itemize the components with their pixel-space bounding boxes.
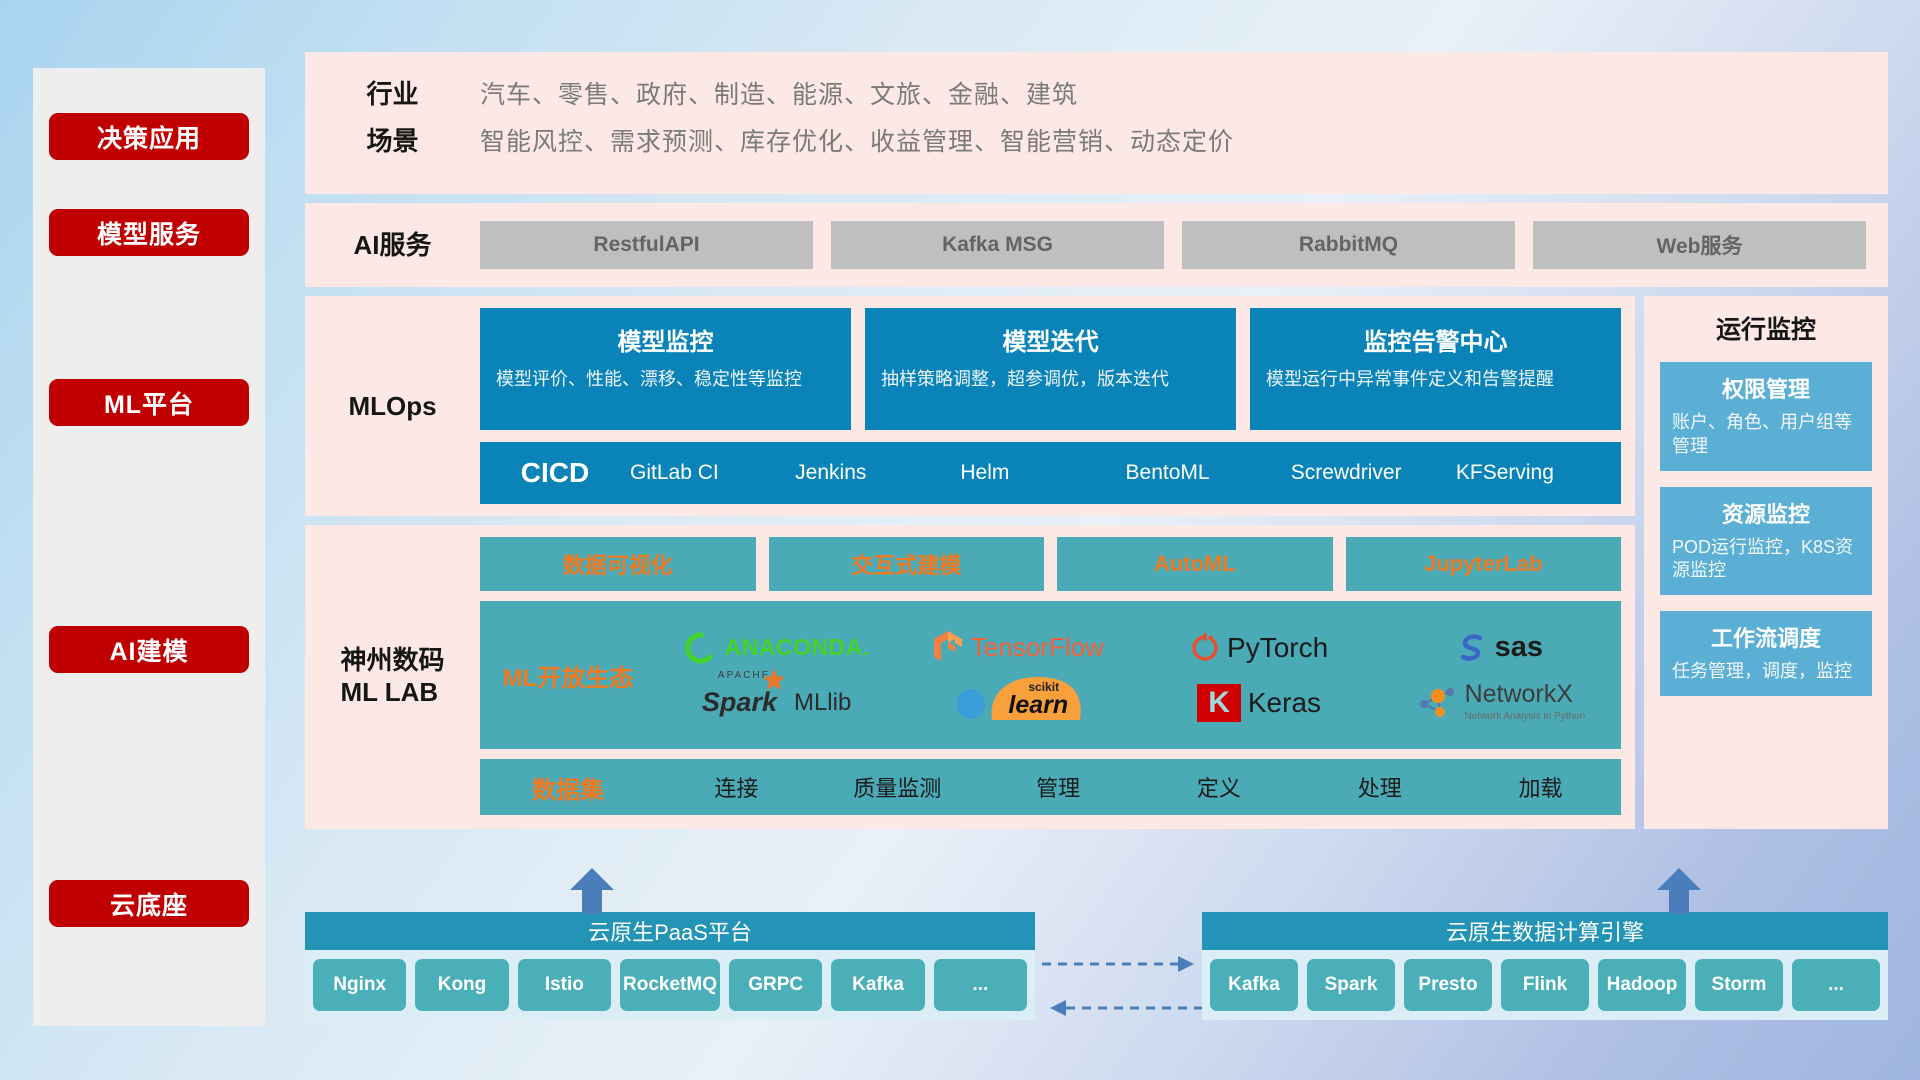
lab-chip-interactive-modeling[interactable]: 交互式建模 <box>769 537 1045 591</box>
tier-label-decision-app[interactable]: 决策应用 <box>49 113 249 160</box>
sas-logo: sas <box>1458 631 1543 664</box>
ml-lab-layer: 神州数码 ML LAB 数据可视化 交互式建模 AutoML JupyterLa… <box>305 525 1635 829</box>
mllib-label: MLlib <box>794 689 851 717</box>
tensorflow-label: TensorFlow <box>971 632 1104 663</box>
mlops-card-desc: 模型评价、性能、漂移、稳定性等监控 <box>496 367 835 391</box>
monitor-card-permission[interactable]: 权限管理 账户、角色、用户组等管理 <box>1660 362 1872 471</box>
networkx-label: NetworkX <box>1465 680 1573 708</box>
paas-chip-kong[interactable]: Kong <box>415 959 508 1011</box>
networkx-graph-icon <box>1416 684 1458 722</box>
arrow-right-head <box>1178 956 1194 972</box>
monitor-card-workflow[interactable]: 工作流调度 任务管理，调度，监控 <box>1660 611 1872 696</box>
cicd-bar: CICD GitLab CI Jenkins Helm BentoML Scre… <box>480 442 1621 504</box>
dataset-item-quality[interactable]: 质量监测 <box>817 771 978 803</box>
monitor-card-title: 权限管理 <box>1672 372 1860 404</box>
monitor-card-desc: 账户、角色、用户组等管理 <box>1672 411 1860 459</box>
service-layer-label: AI服务 <box>305 229 480 262</box>
tensorflow-logo: TensorFlow <box>932 630 1104 666</box>
keras-label: Keras <box>1248 687 1321 719</box>
service-box-rabbitmq[interactable]: RabbitMQ <box>1182 221 1515 269</box>
data-engine-panel: 云原生数据计算引擎 Kafka Spark Presto Flink Hadoo… <box>1202 912 1888 1020</box>
tier-label-ml-platform[interactable]: ML平台 <box>49 379 249 426</box>
tier-rail: 决策应用 模型服务 ML平台 AI建模 云底座 <box>33 68 265 1026</box>
cicd-item-kfserving[interactable]: KFServing <box>1456 462 1621 484</box>
networkx-sublabel: Network Analysis in Python <box>1465 711 1586 722</box>
runtime-monitoring-column: 运行监控 权限管理 账户、角色、用户组等管理 资源监控 POD运行监控，K8S资… <box>1644 296 1888 829</box>
cloud-foundation-layer: 云原生PaaS平台 Nginx Kong Istio RocketMQ GRPC… <box>305 890 1888 1035</box>
mlops-card-title: 模型迭代 <box>881 322 1220 357</box>
engine-chip-spark[interactable]: Spark <box>1307 959 1395 1011</box>
dataset-item-connect[interactable]: 连接 <box>656 771 817 803</box>
mlops-card-desc: 模型运行中异常事件定义和告警提醒 <box>1266 367 1605 391</box>
mlops-card-title: 模型监控 <box>496 322 835 357</box>
engine-chip-flink[interactable]: Flink <box>1501 959 1589 1011</box>
paas-chip-grpc[interactable]: GRPC <box>729 959 822 1011</box>
keras-k-icon: K <box>1197 684 1241 722</box>
cicd-title: CICD <box>480 457 630 489</box>
mlops-card-alert-center[interactable]: 监控告警中心 模型运行中异常事件定义和告警提醒 <box>1250 308 1621 430</box>
paas-chip-rocketmq[interactable]: RocketMQ <box>620 959 720 1011</box>
tier-label-cloud-base[interactable]: 云底座 <box>49 880 249 927</box>
mlops-card-model-monitoring[interactable]: 模型监控 模型评价、性能、漂移、稳定性等监控 <box>480 308 851 430</box>
tier-label-model-service[interactable]: 模型服务 <box>49 209 249 256</box>
engine-chip-presto[interactable]: Presto <box>1404 959 1492 1011</box>
application-row-key: 行业 <box>305 74 480 111</box>
cicd-item-gitlab-ci[interactable]: GitLab CI <box>630 462 795 484</box>
spark-star-icon <box>761 668 787 694</box>
paas-chip-more[interactable]: ... <box>934 959 1027 1011</box>
learn-label: learn <box>1008 691 1068 720</box>
platform-and-monitoring: MLOps 模型监控 模型评价、性能、漂移、稳定性等监控 模型迭代 抽样策略调整… <box>305 296 1888 829</box>
lab-chip-data-visualization[interactable]: 数据可视化 <box>480 537 756 591</box>
cicd-item-jenkins[interactable]: Jenkins <box>795 462 960 484</box>
mlops-layer: MLOps 模型监控 模型评价、性能、漂移、稳定性等监控 模型迭代 抽样策略调整… <box>305 296 1635 516</box>
architecture-stack: 行业 汽车、零售、政府、制造、能源、文旅、金融、建筑 场景 智能风控、需求预测、… <box>305 52 1888 829</box>
scikit-blue-blob-icon <box>951 683 991 723</box>
mlops-card-title: 监控告警中心 <box>1266 322 1605 357</box>
data-engine-title: 云原生数据计算引擎 <box>1202 912 1888 950</box>
monitor-card-desc: 任务管理，调度，监控 <box>1672 660 1860 684</box>
paas-title: 云原生PaaS平台 <box>305 912 1035 950</box>
anaconda-logo: ANACONDA. <box>684 631 870 665</box>
tensorflow-icon <box>932 630 964 666</box>
scikit-learn-logo: scikit learn <box>951 676 1084 729</box>
engine-chip-more[interactable]: ... <box>1792 959 1880 1011</box>
application-row: 场景 智能风控、需求预测、库存优化、收益管理、智能营销、动态定价 <box>305 121 1888 158</box>
paas-up-arrow-icon <box>570 868 614 914</box>
paas-chip-nginx[interactable]: Nginx <box>313 959 406 1011</box>
paas-panel: 云原生PaaS平台 Nginx Kong Istio RocketMQ GRPC… <box>305 912 1035 1020</box>
ml-lab-label: 神州数码 ML LAB <box>340 644 444 709</box>
lab-chip-automl[interactable]: AutoML <box>1057 537 1333 591</box>
application-row: 行业 汽车、零售、政府、制造、能源、文旅、金融、建筑 <box>305 74 1888 111</box>
arrow-left-head <box>1050 1000 1066 1016</box>
mlops-card-desc: 抽样策略调整，超参调优，版本迭代 <box>881 367 1220 391</box>
engine-chip-hadoop[interactable]: Hadoop <box>1598 959 1686 1011</box>
cicd-item-bentoml[interactable]: BentoML <box>1126 462 1291 484</box>
cicd-item-helm[interactable]: Helm <box>960 462 1125 484</box>
keras-logo: K Keras <box>1197 684 1321 722</box>
networkx-logo: NetworkX Network Analysis in Python <box>1416 682 1586 723</box>
panel-connector-arrows <box>1042 952 1202 1029</box>
dataset-item-define[interactable]: 定义 <box>1138 771 1299 803</box>
tier-label-ai-modeling[interactable]: AI建模 <box>49 626 249 673</box>
application-row-key: 场景 <box>305 121 480 158</box>
dataset-item-process[interactable]: 处理 <box>1299 771 1460 803</box>
paas-chip-kafka[interactable]: Kafka <box>831 959 924 1011</box>
ml-ecosystem-band: ML开放生态 ANACONDA. <box>480 601 1621 749</box>
pytorch-icon <box>1190 631 1220 665</box>
lab-chip-jupyterlab[interactable]: JupyterLab <box>1346 537 1622 591</box>
runtime-monitoring-title: 运行监控 <box>1660 310 1872 346</box>
service-box-kafka-msg[interactable]: Kafka MSG <box>831 221 1164 269</box>
engine-chip-kafka[interactable]: Kafka <box>1210 959 1298 1011</box>
dataset-item-manage[interactable]: 管理 <box>978 771 1139 803</box>
monitor-card-resource[interactable]: 资源监控 POD运行监控，K8S资源监控 <box>1660 487 1872 596</box>
monitor-card-title: 资源监控 <box>1672 497 1860 529</box>
application-row-value: 汽车、零售、政府、制造、能源、文旅、金融、建筑 <box>480 75 1078 111</box>
pytorch-label: PyTorch <box>1227 632 1328 664</box>
service-box-web[interactable]: Web服务 <box>1533 221 1866 269</box>
spark-mllib-logo: APACHE Spark MLlib <box>702 687 851 718</box>
application-layer: 行业 汽车、零售、政府、制造、能源、文旅、金融、建筑 场景 智能风控、需求预测、… <box>305 52 1888 194</box>
ml-ecosystem-label: ML开放生态 <box>480 658 656 693</box>
anaconda-icon <box>684 631 718 665</box>
service-box-restful-api[interactable]: RestfulAPI <box>480 221 813 269</box>
engine-chip-storm[interactable]: Storm <box>1695 959 1783 1011</box>
anaconda-label: ANACONDA. <box>725 634 870 661</box>
mlops-card-model-iteration[interactable]: 模型迭代 抽样策略调整，超参调优，版本迭代 <box>865 308 1236 430</box>
application-row-value: 智能风控、需求预测、库存优化、收益管理、智能营销、动态定价 <box>480 122 1234 158</box>
paas-chip-istio[interactable]: Istio <box>518 959 611 1011</box>
sas-icon <box>1458 632 1488 664</box>
pytorch-logo: PyTorch <box>1190 631 1328 665</box>
service-layer: AI服务 RestfulAPI Kafka MSG RabbitMQ Web服务 <box>305 203 1888 287</box>
monitor-card-desc: POD运行监控，K8S资源监控 <box>1672 536 1860 584</box>
sas-label: sas <box>1495 631 1543 664</box>
dataset-bar: 数据集 连接 质量监测 管理 定义 处理 加载 <box>480 759 1621 815</box>
engine-up-arrow-icon <box>1657 868 1701 914</box>
monitor-card-title: 工作流调度 <box>1672 621 1860 653</box>
dataset-item-load[interactable]: 加载 <box>1460 771 1621 803</box>
mlops-layer-label: MLOps <box>348 390 436 423</box>
cicd-item-screwdriver[interactable]: Screwdriver <box>1291 462 1456 484</box>
dataset-title: 数据集 <box>480 770 656 805</box>
